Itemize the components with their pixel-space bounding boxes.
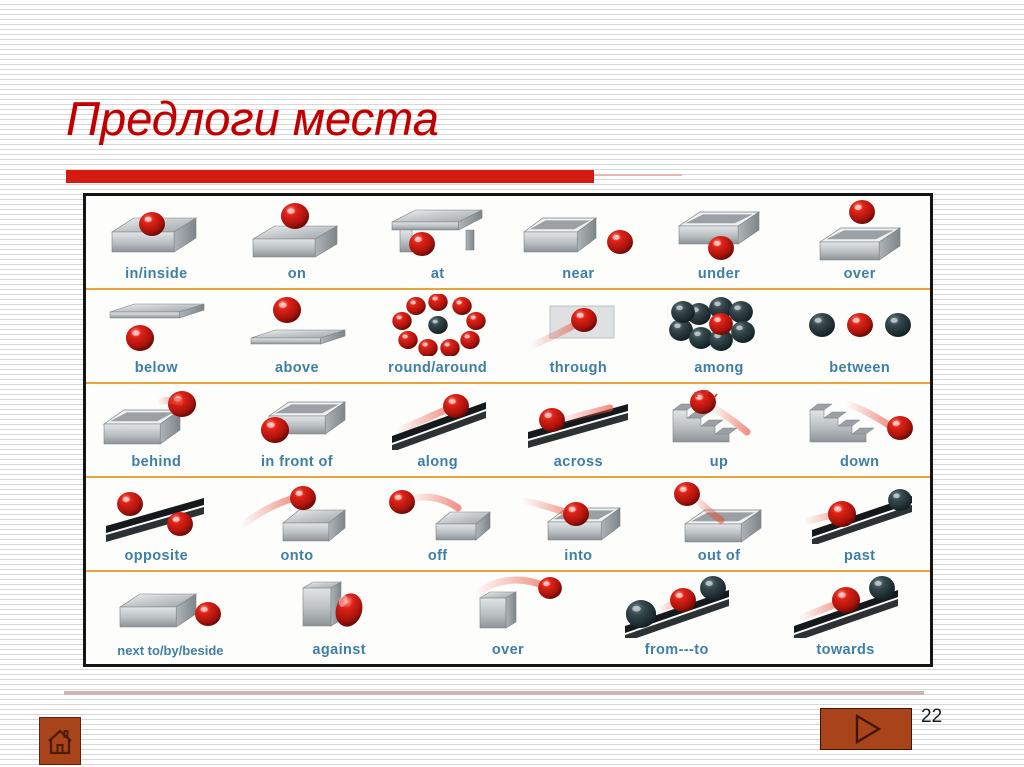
table-row: in/inside on — [86, 196, 930, 290]
preposition-cell[interactable]: from---to — [592, 572, 761, 664]
preposition-label: towards — [816, 642, 874, 661]
preposition-cell[interactable]: into — [508, 478, 649, 570]
title-block: Предлоги места — [66, 92, 666, 146]
footer-divider — [64, 691, 924, 695]
preposition-label: among — [694, 360, 744, 379]
ball-over-box-icon — [789, 196, 930, 266]
preposition-label: into — [564, 548, 592, 567]
table-row: next to/by/beside against — [86, 572, 930, 664]
preposition-label: round/around — [388, 360, 487, 379]
ball-from-to-icon — [592, 572, 761, 642]
ball-below-slab-icon — [86, 290, 227, 360]
preposition-label: at — [431, 266, 445, 285]
preposition-label: from---to — [645, 642, 709, 661]
ball-past-ball-icon — [789, 478, 930, 548]
preposition-cell[interactable]: through — [508, 290, 649, 382]
preposition-label: out of — [698, 548, 741, 567]
preposition-label: through — [550, 360, 608, 379]
preposition-label: along — [417, 454, 458, 473]
ball-off-box-icon — [367, 478, 508, 548]
ball-into-box-icon — [508, 478, 649, 548]
home-icon — [46, 726, 74, 756]
page-number: 22 — [921, 706, 942, 728]
preposition-label: over — [492, 642, 524, 661]
preposition-cell[interactable]: behind — [86, 384, 227, 476]
preposition-label: in/inside — [125, 266, 187, 285]
preposition-cell[interactable]: under — [649, 196, 790, 288]
balls-opposite-rail-icon — [86, 478, 227, 548]
preposition-cell[interactable]: towards — [761, 572, 930, 664]
ball-onto-box-icon — [227, 478, 368, 548]
preposition-cell[interactable]: at — [367, 196, 508, 288]
preposition-label: down — [840, 454, 879, 473]
ball-against-box-icon — [255, 572, 424, 642]
preposition-label: next to/by/beside — [117, 642, 223, 661]
ball-behind-box-icon — [86, 384, 227, 454]
ball-down-stairs-icon — [789, 384, 930, 454]
balls-around-ball-icon — [367, 290, 508, 360]
preposition-label: up — [710, 454, 729, 473]
preposition-cell[interactable]: between — [789, 290, 930, 382]
preposition-label: between — [829, 360, 890, 379]
preposition-label: past — [844, 548, 875, 567]
ball-next-to-box-icon — [86, 572, 255, 642]
ball-across-rail-icon — [508, 384, 649, 454]
ball-up-stairs-icon — [649, 384, 790, 454]
ball-at-table-icon — [367, 196, 508, 266]
preposition-label: onto — [281, 548, 314, 567]
preposition-cell[interactable]: on — [227, 196, 368, 288]
preposition-cell[interactable]: across — [508, 384, 649, 476]
preposition-label: below — [135, 360, 178, 379]
preposition-cell[interactable]: next to/by/beside — [86, 572, 255, 664]
ball-in-box-icon — [86, 196, 227, 266]
preposition-cell[interactable]: in/inside — [86, 196, 227, 288]
preposition-cell[interactable]: round/around — [367, 290, 508, 382]
preposition-cell[interactable]: above — [227, 290, 368, 382]
table-row: behind in front of — [86, 384, 930, 478]
preposition-cell[interactable]: past — [789, 478, 930, 570]
prepositions-table: in/inside on — [83, 193, 933, 667]
preposition-cell[interactable]: up — [649, 384, 790, 476]
preposition-cell[interactable]: against — [255, 572, 424, 664]
preposition-label: under — [698, 266, 740, 285]
ball-above-slab-icon — [227, 290, 368, 360]
preposition-cell[interactable]: out of — [649, 478, 790, 570]
preposition-label: across — [554, 454, 603, 473]
preposition-cell[interactable]: below — [86, 290, 227, 382]
ball-under-box-icon — [649, 196, 790, 266]
home-button[interactable] — [39, 717, 81, 765]
table-row: opposite onto — [86, 478, 930, 572]
play-triangle-icon — [849, 713, 883, 745]
preposition-cell[interactable]: off — [367, 478, 508, 570]
preposition-label: on — [288, 266, 307, 285]
ball-on-box-icon — [227, 196, 368, 266]
ball-between-balls-icon — [789, 290, 930, 360]
preposition-cell[interactable]: over — [789, 196, 930, 288]
preposition-label: above — [275, 360, 319, 379]
title-underline-tail — [594, 174, 682, 176]
ball-in-front-of-box-icon — [227, 384, 368, 454]
preposition-label: near — [562, 266, 594, 285]
page-title: Предлоги места — [66, 92, 666, 146]
next-button[interactable] — [820, 708, 912, 750]
ball-out-of-box-icon — [649, 478, 790, 548]
title-underline-bar — [66, 170, 594, 183]
preposition-cell[interactable]: opposite — [86, 478, 227, 570]
preposition-label: against — [312, 642, 366, 661]
ball-towards-icon — [761, 572, 930, 642]
slide-canvas: Предлоги места in/inside — [0, 0, 1024, 767]
preposition-label: opposite — [125, 548, 189, 567]
ball-over-block-icon — [424, 572, 593, 642]
ball-among-balls-icon — [649, 290, 790, 360]
preposition-cell[interactable]: in front of — [227, 384, 368, 476]
ball-through-wall-icon — [508, 290, 649, 360]
preposition-cell[interactable]: along — [367, 384, 508, 476]
preposition-label: off — [428, 548, 448, 567]
preposition-cell[interactable]: near — [508, 196, 649, 288]
preposition-cell[interactable]: down — [789, 384, 930, 476]
ball-along-rail-icon — [367, 384, 508, 454]
preposition-cell[interactable]: onto — [227, 478, 368, 570]
preposition-label: in front of — [261, 454, 333, 473]
preposition-cell[interactable]: among — [649, 290, 790, 382]
preposition-label: behind — [131, 454, 181, 473]
ball-near-box-icon — [508, 196, 649, 266]
table-row: below above — [86, 290, 930, 384]
preposition-label: over — [844, 266, 876, 285]
preposition-cell[interactable]: over — [424, 572, 593, 664]
